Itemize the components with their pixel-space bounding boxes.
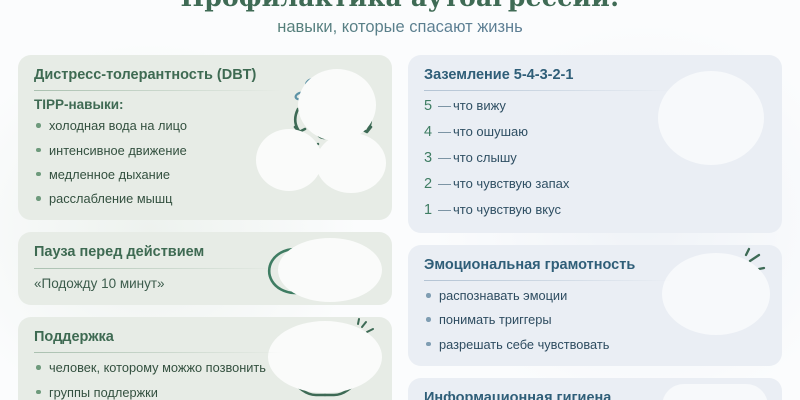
step-dash: — <box>436 98 453 113</box>
card-heading: Заземление 5-4-3-2-1 <box>424 67 768 91</box>
list-item: холодная вода на лицо <box>34 117 378 134</box>
step-dash: — <box>436 176 453 191</box>
card-heading: Пауза перед действием <box>34 244 378 268</box>
list-item: распознавать эмоции <box>424 287 768 304</box>
step-number: 4 <box>424 123 436 142</box>
left-column: Дистресс-толерантность (DBT) TIPP-навыки… <box>18 55 392 400</box>
list-item: 5—что вижу <box>424 97 768 116</box>
list-item: интенсивное движение <box>34 142 378 159</box>
support-list: человек, которому можжо позвонить группы… <box>34 359 378 400</box>
list-item: человек, которому можжо позвонить <box>34 359 378 376</box>
card-support[interactable]: Поддержка человек, которому можжо позвон… <box>18 317 392 400</box>
list-item: группы подлержки <box>34 384 378 400</box>
list-item: медленное дыхание <box>34 166 378 183</box>
list-item: 1—что чувствую вкус <box>424 201 768 220</box>
step-dash: — <box>436 150 453 165</box>
tipp-skills-list: холодная вода на лицо интенсивное движен… <box>34 117 378 207</box>
card-sublabel: TIPP-навыки: <box>34 97 378 112</box>
step-dash: — <box>436 202 453 217</box>
page-subtitle: навыки, которые спасают жизнь <box>0 18 800 38</box>
card-heading: Дистресс-толерантность (DBT) <box>34 67 378 91</box>
list-item: 4—что ошушаю <box>424 123 768 142</box>
step-text: что чувствую запах <box>453 176 569 191</box>
cards-grid: Дистресс-толерантность (DBT) TIPP-навыки… <box>0 55 800 400</box>
page-title: Профилактика аутоагрессии: <box>0 0 800 13</box>
card-pause-before-action[interactable]: Пауза перед действием «Подожду 10 минут» <box>18 232 392 304</box>
card-heading: Информационная гигиена <box>424 390 768 400</box>
page-header: Профилактика аутоагрессии: навыки, котор… <box>0 0 800 38</box>
card-grounding-54321[interactable]: Заземление 5-4-3-2-1 5—что вижу 4—что ош… <box>408 55 782 233</box>
pause-quote: «Подожду 10 минут» <box>34 275 378 293</box>
list-item: 2—что чувствую запах <box>424 175 768 194</box>
card-emotional-literacy[interactable]: Эмоциональная грамотность распознавать э… <box>408 245 782 366</box>
right-column: Заземление 5-4-3-2-1 5—что вижу 4—что ош… <box>408 55 782 400</box>
step-text: что ошушаю <box>453 124 528 139</box>
card-distress-tolerance[interactable]: Дистресс-толерантность (DBT) TIPP-навыки… <box>18 55 392 220</box>
step-dash: — <box>436 124 453 139</box>
grounding-steps-list: 5—что вижу 4—что ошушаю 3—что слышу 2—чт… <box>424 97 768 219</box>
card-heading: Поддержка <box>34 329 378 353</box>
list-item: разрешать себе чувствовать <box>424 336 768 353</box>
step-number: 5 <box>424 97 436 116</box>
step-text: что вижу <box>453 98 506 113</box>
step-text: что слышу <box>453 150 517 165</box>
card-heading: Эмоциональная грамотность <box>424 257 768 281</box>
step-number: 2 <box>424 175 436 194</box>
list-item: понимать триггеры <box>424 311 768 328</box>
step-text: что чувствую вкус <box>453 202 561 217</box>
card-information-hygiene[interactable]: Информационная гигиена меньше токсичного… <box>408 378 782 400</box>
list-item: 3—что слышу <box>424 149 768 168</box>
step-number: 1 <box>424 201 436 220</box>
step-number: 3 <box>424 149 436 168</box>
emotional-literacy-list: распознавать эмоции понимать триггеры ра… <box>424 287 768 353</box>
list-item: расслабление мышц <box>34 190 378 207</box>
